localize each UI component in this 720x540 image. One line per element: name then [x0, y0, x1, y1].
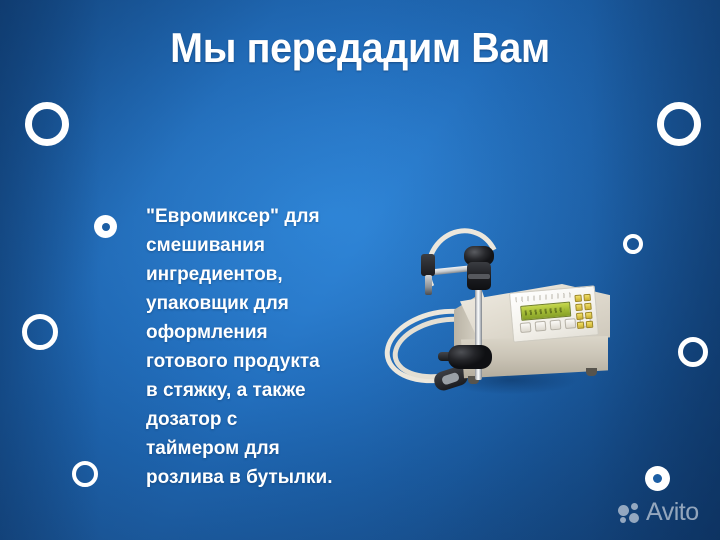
avito-wordmark: Avito [646, 500, 699, 525]
clamp-knob-lower-icon [448, 345, 492, 369]
keypad-key [586, 321, 594, 329]
keypad-key [576, 312, 584, 320]
panel-button [520, 322, 532, 333]
left-small-ring-icon [72, 461, 98, 487]
left-donut-icon [94, 215, 117, 238]
right-large-ring-icon [657, 102, 701, 146]
keypad-key [585, 312, 593, 320]
page-title: Мы передадим Вам [22, 23, 699, 73]
control-panel [509, 285, 599, 342]
keypad-key [584, 303, 592, 311]
description-line: оформления [146, 318, 378, 347]
panel-label-strip [515, 292, 571, 302]
filling-nozzle [425, 275, 432, 295]
description-line: готового продукта [146, 347, 378, 376]
left-large-ring-icon [25, 102, 69, 146]
keypad [574, 294, 593, 329]
panel-button [550, 319, 562, 330]
description-line: упаковщик для [146, 289, 378, 318]
description-line: ингредиентов, [146, 260, 378, 289]
avito-watermark: Avito [618, 500, 699, 525]
description-line: смешивания [146, 231, 378, 260]
slide-canvas: Мы передадим Вам "Евромиксер" для смешив… [0, 0, 720, 540]
right-mid-ring-icon [678, 337, 708, 367]
panel-button [564, 318, 576, 329]
description-line: в стяжку, а также [146, 376, 378, 405]
right-small-ring-icon [623, 234, 643, 254]
description-line: "Евромиксер" для [146, 202, 378, 231]
lcd-display [520, 302, 571, 321]
description-line: таймером для [146, 434, 378, 463]
description-line: дозатор с [146, 405, 378, 434]
description-text: "Евромиксер" для смешивания ингредиентов… [146, 202, 378, 492]
product-image [382, 232, 610, 430]
panel-button [535, 321, 547, 332]
clamp-band [468, 274, 490, 279]
left-mid-ring-icon [22, 314, 58, 350]
avito-dots-logo-icon [618, 502, 642, 524]
keypad-key [575, 304, 583, 312]
description-line: розлива в бутылки. [146, 463, 378, 492]
machine-foot [586, 368, 597, 376]
right-donut-icon [645, 466, 670, 491]
keypad-key [574, 295, 582, 303]
nozzle-clamp [421, 254, 435, 276]
keypad-key [583, 294, 591, 302]
keypad-key [577, 321, 585, 329]
